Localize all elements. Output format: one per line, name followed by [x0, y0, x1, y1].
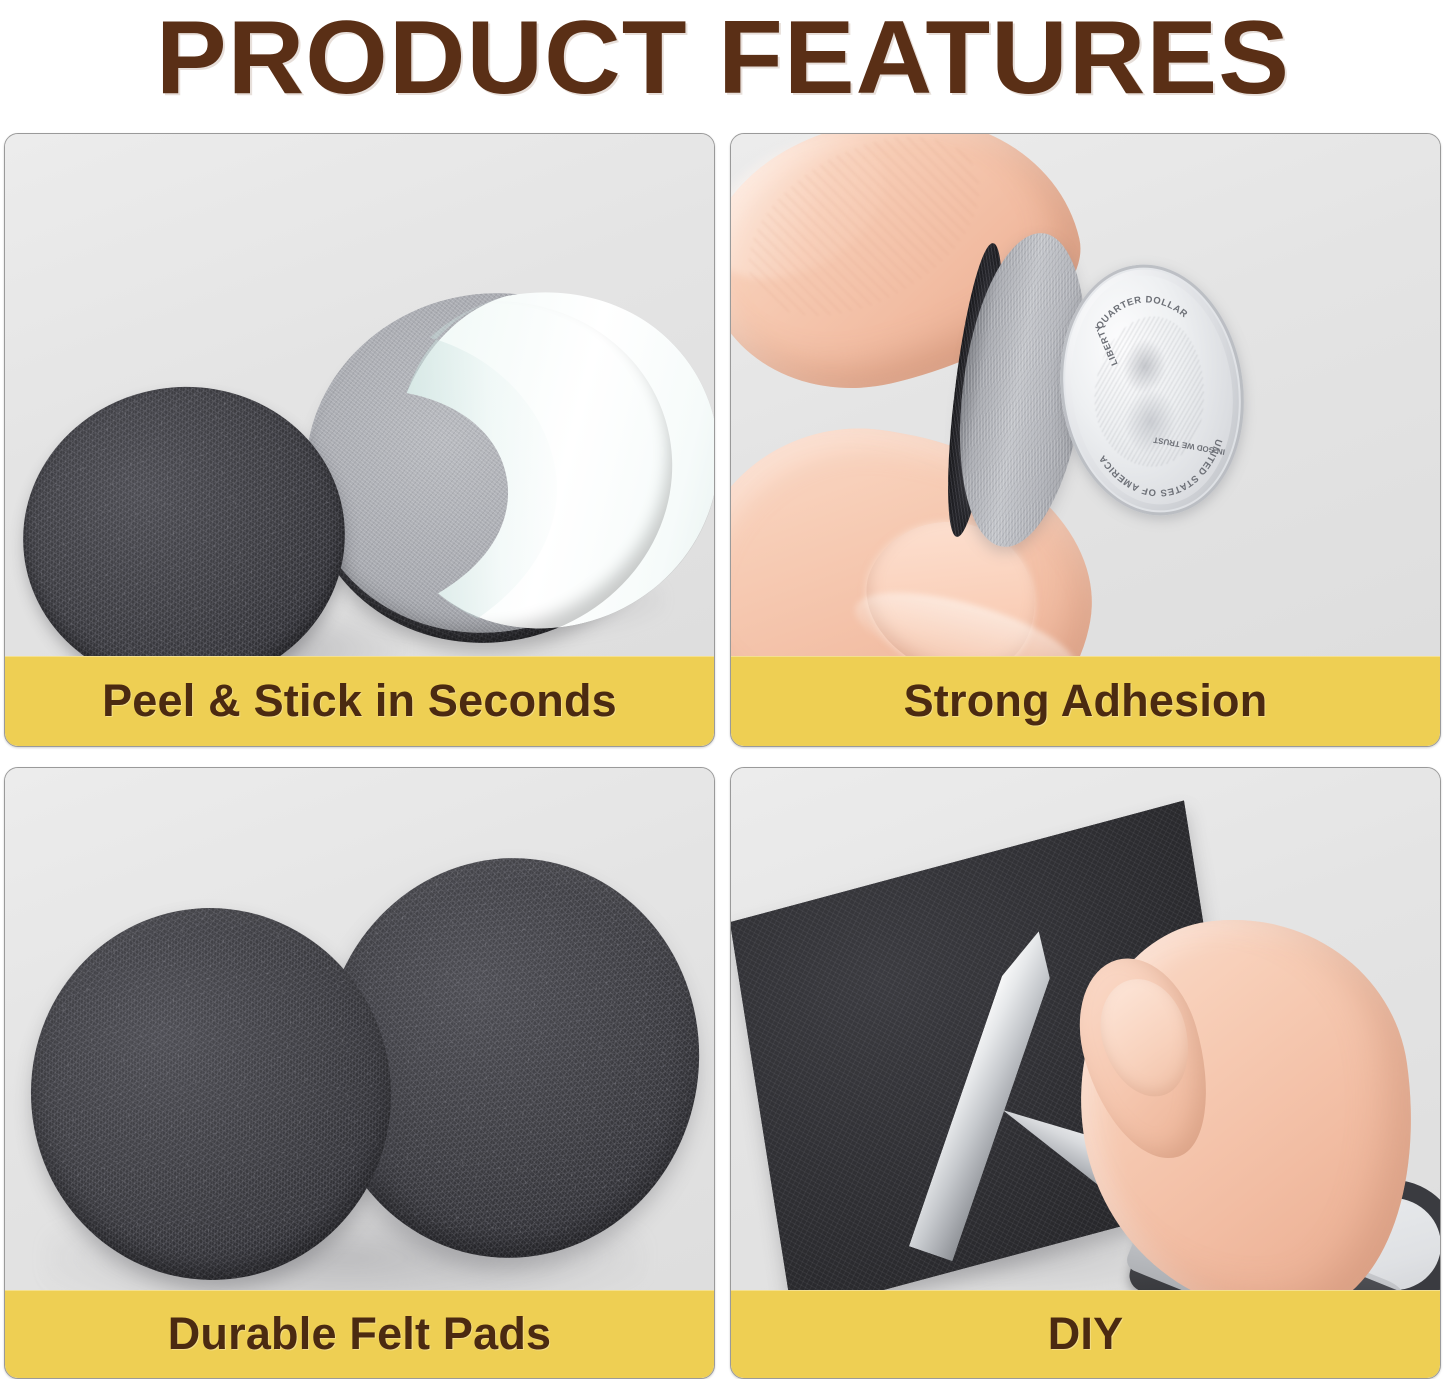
- panel-caption-text: Strong Adhesion: [904, 675, 1268, 727]
- feature-panel-diy[interactable]: DIY: [730, 767, 1441, 1379]
- scissors-cutting-felt-photo: [731, 768, 1440, 1290]
- two-felt-pads-photo: [5, 768, 714, 1290]
- panel-caption-bar: Durable Felt Pads: [5, 1290, 714, 1378]
- panel-caption-bar: Strong Adhesion: [731, 656, 1440, 746]
- panel-caption-text: DIY: [1048, 1308, 1124, 1360]
- page-title: PRODUCT FEATURES: [155, 6, 1289, 128]
- pad-with-quarter-photo: UNITED STATES OF AMERICA QUARTER DOLLAR …: [731, 134, 1440, 656]
- panel-caption-text: Durable Felt Pads: [168, 1308, 552, 1360]
- panel-caption-text: Peel & Stick in Seconds: [102, 675, 617, 727]
- page-header: PRODUCT FEATURES: [0, 0, 1445, 133]
- felt-pad-front: [8, 371, 360, 656]
- feature-panel-strong-adhesion[interactable]: UNITED STATES OF AMERICA QUARTER DOLLAR …: [730, 133, 1441, 747]
- panel-caption-bar: DIY: [731, 1290, 1440, 1378]
- felt-pads-adhesive-photo: [5, 134, 714, 656]
- feature-panel-peel-and-stick[interactable]: Peel & Stick in Seconds: [4, 133, 715, 747]
- feature-panel-durable-felt-pads[interactable]: Durable Felt Pads: [4, 767, 715, 1379]
- feature-grid: Peel & Stick in Seconds: [0, 133, 1445, 1379]
- panel-caption-bar: Peel & Stick in Seconds: [5, 656, 714, 746]
